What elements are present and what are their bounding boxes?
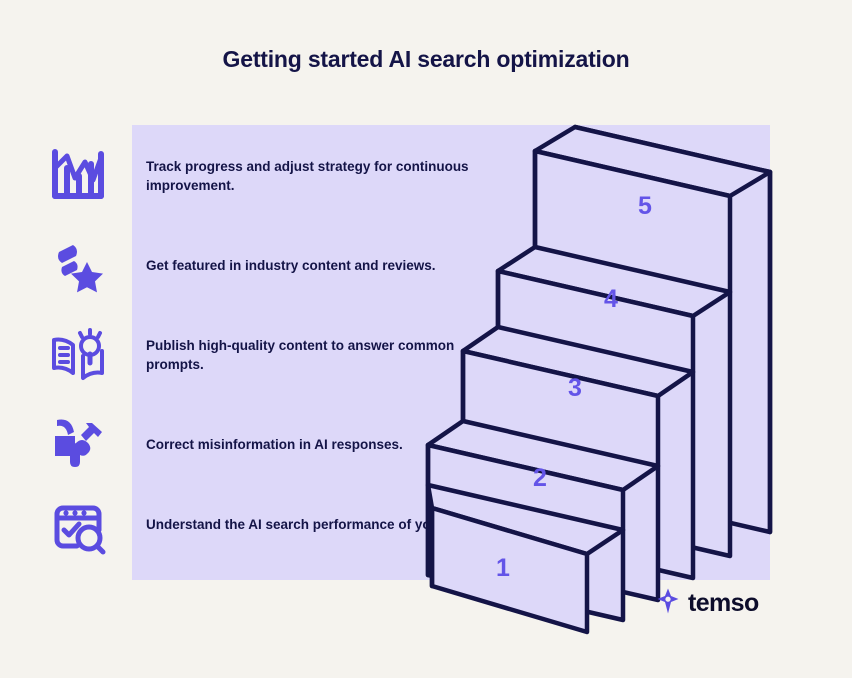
step-text-4: Get featured in industry content and rev… [146,256,496,275]
page-title: Getting started AI search optimization [0,46,852,73]
analytics-chart-icon [46,143,110,207]
infographic-canvas: Getting started AI search optimization [0,0,852,678]
brand-name: temso [688,589,759,618]
icon-column [46,125,116,580]
step-text-5: Track progress and adjust strategy for c… [146,157,496,195]
wrench-tool-icon [46,409,110,473]
badge-star-icon [46,233,110,297]
step-text-column: Track progress and adjust strategy for c… [146,125,516,580]
step-text-2: Correct misinformation in AI responses. [146,435,496,454]
book-lightbulb-icon [46,321,110,385]
step-text-1: Understand the AI search performance of … [146,515,496,534]
step-text-3: Publish high-quality content to answer c… [146,336,496,374]
brand-logo: temso [655,588,759,619]
browser-search-check-icon [46,497,110,561]
sparkle-star-icon [655,588,681,619]
